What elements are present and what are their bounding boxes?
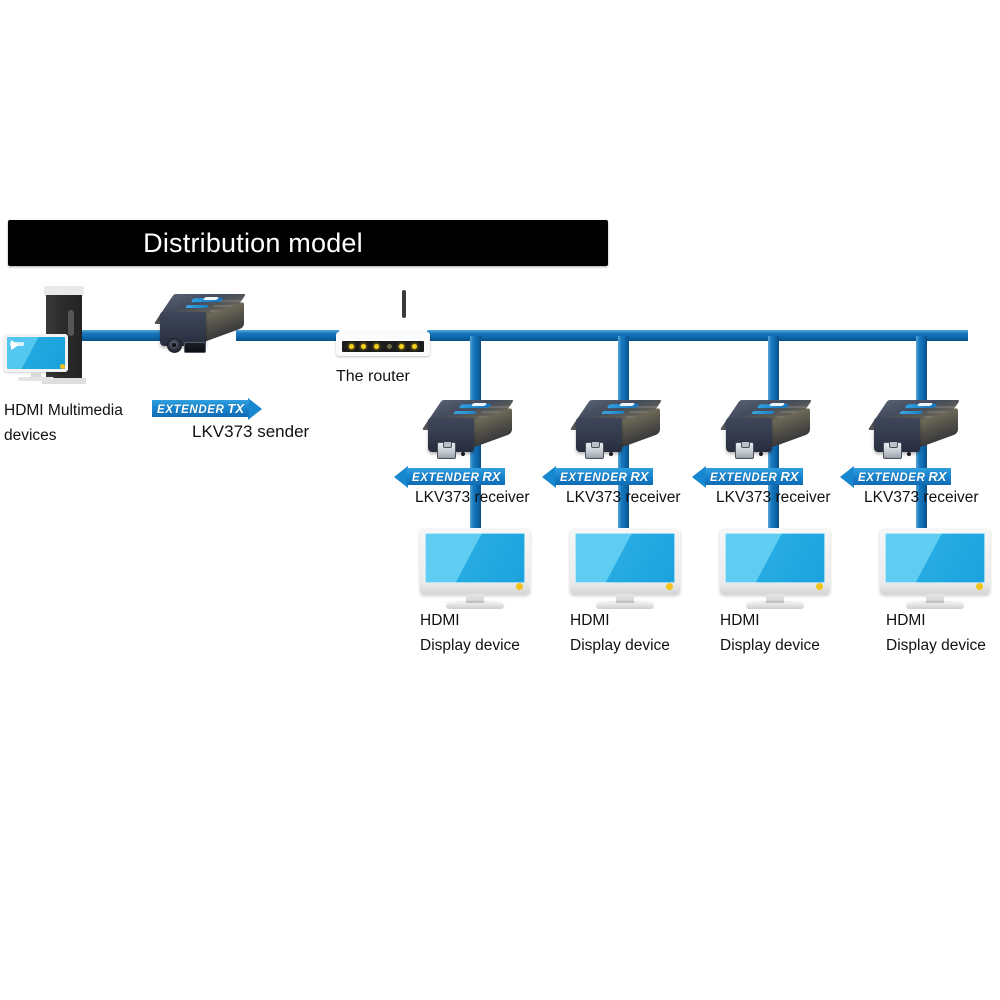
hdmi-display-device-1	[420, 528, 530, 614]
diagram-canvas: Distribution model HDMI Multimedia devic…	[0, 0, 1000, 1000]
hdmi-display-device-2	[570, 528, 680, 614]
page-title: Distribution model	[8, 220, 608, 266]
sender-extender-banner: EXTENDERTX	[152, 400, 262, 417]
display-label-line1: HDMI	[886, 608, 986, 633]
source-monitor-taskbar	[10, 342, 24, 346]
receiver-banner-bar: EXTENDERRX	[705, 468, 803, 485]
source-monitor-bezel	[4, 334, 68, 372]
receiver-label-4: LKV373 receiver	[864, 488, 979, 508]
receiver-blue-stripe-2	[899, 411, 923, 414]
receiver-label-2: LKV373 receiver	[566, 488, 681, 508]
display-screen	[425, 533, 525, 583]
cable-distribution-bus	[424, 330, 968, 341]
rj45-port-icon	[735, 442, 754, 459]
reset-pinhole-icon	[609, 452, 613, 456]
receiver-banner-mode: RX	[479, 469, 500, 484]
lkv373-receiver-device-1	[428, 400, 514, 458]
router-led-panel	[342, 341, 424, 352]
title-banner: Distribution model	[8, 220, 608, 266]
receiver-white-stripe	[917, 403, 933, 406]
receiver-extender-banner-1: EXTENDERRX	[394, 468, 505, 485]
receiver-front-face	[874, 418, 920, 452]
hdmi-display-device-3	[720, 528, 830, 614]
rj45-port-icon	[437, 442, 456, 459]
dc-power-jack-icon	[167, 338, 182, 353]
receiver-label-1: LKV373 receiver	[415, 488, 530, 508]
receiver-front-face	[576, 418, 622, 452]
receiver-front-face	[726, 418, 772, 452]
hdmi-display-device-4	[880, 528, 990, 614]
receiver-banner-bar: EXTENDERRX	[853, 468, 951, 485]
router-led	[349, 344, 354, 349]
arrow-left-icon	[692, 466, 706, 488]
receiver-banner-text: EXTENDER	[560, 472, 627, 484]
router-antenna	[402, 290, 406, 318]
display-label-line1: HDMI	[720, 608, 820, 633]
sender-banner-text: EXTENDER	[157, 404, 224, 416]
display-screen	[575, 533, 675, 583]
rj45-port-icon	[883, 442, 902, 459]
display-power-led	[816, 583, 823, 590]
router-device	[336, 314, 430, 356]
router-led	[374, 344, 379, 349]
receiver-banner-mode: RX	[925, 469, 946, 484]
display-label-line2: Display device	[420, 633, 520, 658]
router-led	[399, 344, 404, 349]
source-monitor-power-led	[60, 364, 65, 369]
sender-banner-bar: EXTENDERTX	[152, 400, 249, 417]
reset-pinhole-icon	[759, 452, 763, 456]
receiver-extender-banner-2: EXTENDERRX	[542, 468, 653, 485]
receiver-banner-bar: EXTENDERRX	[555, 468, 653, 485]
arrow-right-icon	[248, 398, 262, 420]
cable-sender-to-router	[236, 330, 346, 341]
sender-banner-mode: TX	[224, 401, 244, 416]
rj45-port-icon	[585, 442, 604, 459]
display-screen	[725, 533, 825, 583]
display-label-3: HDMI Display device	[720, 608, 820, 658]
hdmi-port-icon	[184, 342, 206, 353]
display-power-led	[976, 583, 983, 590]
receiver-banner-text: EXTENDER	[858, 472, 925, 484]
display-bezel	[880, 528, 990, 594]
display-bezel	[570, 528, 680, 594]
display-label-line2: Display device	[886, 633, 986, 658]
arrow-left-icon	[394, 466, 408, 488]
receiver-blue-stripe-2	[601, 411, 625, 414]
source-label-line1: HDMI Multimedia	[4, 398, 123, 423]
router-label: The router	[336, 367, 410, 387]
receiver-banner-text: EXTENDER	[412, 472, 479, 484]
sender-front-face	[160, 312, 206, 346]
sender-label: LKV373 sender	[192, 422, 309, 442]
reset-pinhole-icon	[461, 452, 465, 456]
receiver-blue-stripe-2	[453, 411, 477, 414]
display-power-led	[516, 583, 523, 590]
receiver-banner-mode: RX	[627, 469, 648, 484]
router-led	[412, 344, 417, 349]
arrow-left-icon	[542, 466, 556, 488]
source-monitor	[4, 334, 68, 384]
source-label-line2: devices	[4, 423, 123, 448]
arrow-left-icon	[840, 466, 854, 488]
display-label-4: HDMI Display device	[886, 608, 986, 658]
receiver-banner-text: EXTENDER	[710, 472, 777, 484]
lkv373-receiver-device-4	[874, 400, 960, 458]
receiver-extender-banner-3: EXTENDERRX	[692, 468, 803, 485]
receiver-banner-mode: RX	[777, 469, 798, 484]
receiver-white-stripe	[769, 403, 785, 406]
router-led	[387, 344, 392, 349]
display-label-2: HDMI Display device	[570, 608, 670, 658]
receiver-extender-banner-4: EXTENDERRX	[840, 468, 951, 485]
display-power-led	[666, 583, 673, 590]
receiver-white-stripe	[619, 403, 635, 406]
display-label-line1: HDMI	[570, 608, 670, 633]
display-screen	[885, 533, 985, 583]
display-label-line2: Display device	[570, 633, 670, 658]
display-label-1: HDMI Display device	[420, 608, 520, 658]
receiver-white-stripe	[471, 403, 487, 406]
reset-pinhole-icon	[907, 452, 911, 456]
display-label-line2: Display device	[720, 633, 820, 658]
receiver-blue-stripe-2	[751, 411, 775, 414]
source-label: HDMI Multimedia devices	[4, 398, 123, 448]
sender-blue-stripe-2	[185, 305, 209, 308]
display-bezel	[720, 528, 830, 594]
lkv373-receiver-device-2	[576, 400, 662, 458]
display-bezel	[420, 528, 530, 594]
lkv373-receiver-device-3	[726, 400, 812, 458]
receiver-front-face	[428, 418, 474, 452]
receiver-banner-bar: EXTENDERRX	[407, 468, 505, 485]
sender-white-stripe	[203, 297, 219, 300]
lkv373-sender-device	[160, 294, 246, 352]
receiver-label-3: LKV373 receiver	[716, 488, 831, 508]
tower-drive-slot	[68, 310, 74, 336]
display-label-line1: HDMI	[420, 608, 520, 633]
source-monitor-foot	[18, 377, 54, 381]
router-led	[361, 344, 366, 349]
